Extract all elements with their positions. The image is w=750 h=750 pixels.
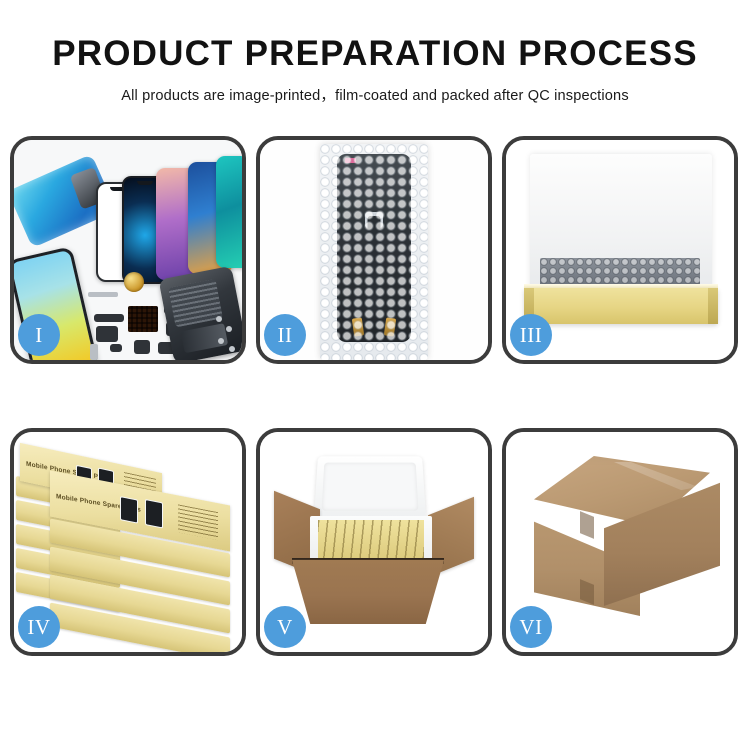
printed-screen-image [145, 499, 163, 528]
kraft-tray-box-graphic [524, 288, 718, 324]
small-connector-part-icon [110, 344, 122, 352]
screw-icon [216, 316, 222, 322]
sim-tray-part-icon [90, 344, 98, 360]
gold-contact-right-icon [384, 317, 396, 336]
speaker-coil-part-icon [124, 272, 144, 292]
carton-body-graphic [292, 560, 444, 624]
pink-label-sticker-icon [345, 158, 356, 163]
step-panel-3: III [502, 136, 738, 364]
phone-notch-icon [137, 181, 153, 185]
step-panel-2: II [256, 136, 492, 364]
foam-lid-graphic [314, 456, 426, 518]
phone-teal-wave-graphic [216, 156, 242, 268]
step-badge-4: IV [18, 606, 60, 648]
lcd-display-assembly-graphic [337, 154, 411, 342]
flex-cable-icon [368, 216, 381, 312]
screw-icon [229, 346, 235, 352]
step-panel-6: VI [502, 428, 738, 656]
step-badge-3: III [510, 314, 552, 356]
screw-icon [218, 338, 224, 344]
camera-module-part-icon [96, 326, 118, 342]
process-steps-grid: I II [10, 136, 740, 684]
printed-spec-lines [178, 504, 218, 540]
screw-icon [226, 326, 232, 332]
flex-cable-part-icon [94, 314, 124, 322]
page-subtitle: All products are image-printed，film-coat… [0, 84, 750, 105]
gold-contact-left-icon [352, 317, 364, 336]
phone-fan-graphic [96, 156, 242, 284]
step-badge-6: VI [510, 606, 552, 648]
step-panel-4: Mobile Phone Spare Parts Mobile Phone Sp… [10, 428, 246, 656]
screws-cluster [216, 314, 238, 354]
loudspeaker-part-icon [134, 340, 150, 354]
header: PRODUCT PREPARATION PROCESS All products… [0, 36, 750, 105]
bubble-wrap-bag-graphic [320, 144, 428, 360]
earpiece-mesh-part-icon [88, 292, 118, 297]
step-badge-2: II [264, 314, 306, 356]
step-panel-1: I [10, 136, 246, 364]
packed-yellow-boxes-graphic [318, 520, 424, 560]
carton-seam-upper [580, 511, 594, 539]
step-panel-5: V [256, 428, 492, 656]
step-badge-5: V [264, 606, 306, 648]
printed-screen-image [120, 496, 138, 523]
sealed-carton-graphic [524, 456, 720, 626]
page-title: PRODUCT PREPARATION PROCESS [0, 36, 750, 73]
ic-chip-grid-icon [128, 306, 158, 332]
product-preparation-infographic: PRODUCT PREPARATION PROCESS All products… [0, 0, 750, 750]
step-badge-1: I [18, 314, 60, 356]
